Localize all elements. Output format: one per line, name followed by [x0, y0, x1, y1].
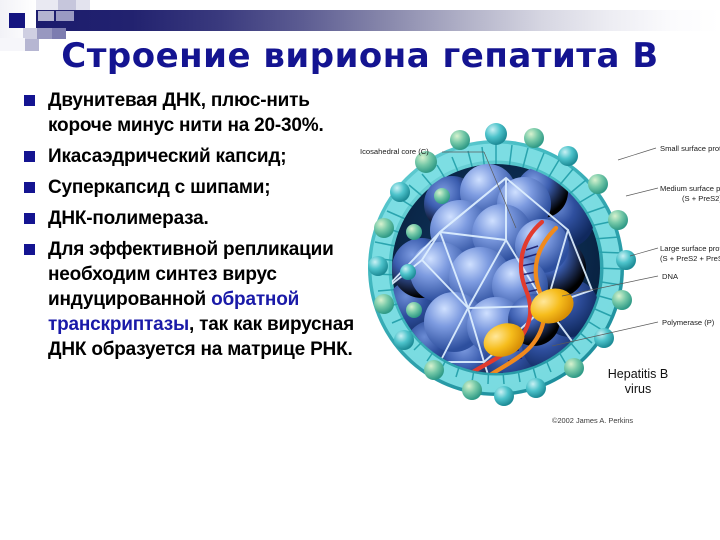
list-item: ДНК-полимераза. [24, 206, 354, 231]
square-bullet-icon [24, 151, 35, 162]
deco-square-mid-3 [56, 11, 74, 21]
figure-caption-line1: Hepatitis B [608, 367, 668, 381]
deco-square-mid-2 [38, 11, 54, 21]
bullet-text-dna: Двунитевая ДНК, плюс-нить короче минус н… [48, 88, 354, 138]
list-item: Суперкапсид с шипами; [24, 175, 354, 200]
label-core: Icosahedral core (C) [360, 147, 429, 156]
slide-root: Строение вириона гепатита B Двунитевая Д… [0, 0, 720, 540]
bullet-text-replication: Для эффективной репликации необходим син… [48, 237, 354, 362]
label-pol: Polymerase (P) [662, 318, 715, 327]
label-medium-s-line2: (S + PreS2) [682, 194, 720, 203]
bullet-text-polymerase: ДНК-полимераза. [48, 206, 354, 231]
deco-square-mid-1 [58, 0, 76, 10]
deco-square-light-2 [76, 0, 90, 10]
hepatitis-b-virion-diagram: Icosahedral core (C) Small surface prote… [356, 100, 720, 450]
square-bullet-icon [24, 182, 35, 193]
square-bullet-icon [24, 244, 35, 255]
deco-square-dark-1 [9, 13, 25, 28]
label-medium-s: Medium surface protein [660, 184, 720, 193]
label-small-s: Small surface protein (S) [660, 144, 720, 153]
bullet-text-supercapsid: Суперкапсид с шипами; [48, 175, 354, 200]
bullet-list: Двунитевая ДНК, плюс-нить короче минус н… [24, 88, 354, 368]
bullet-text-capsid: Икасаэдрический капсид; [48, 144, 354, 169]
list-item: Для эффективной репликации необходим син… [24, 237, 354, 362]
figure-copyright: ©2002 James A. Perkins [552, 416, 633, 425]
page-title: Строение вириона гепатита B [0, 36, 720, 76]
header-gradient-band [36, 10, 720, 31]
label-large-s: Large surface protein [660, 244, 720, 253]
label-large-s-line2: (S + PreS2 + PreS1) [660, 254, 720, 263]
label-dna: DNA [662, 272, 679, 281]
list-item: Икасаэдрический капсид; [24, 144, 354, 169]
list-item: Двунитевая ДНК, плюс-нить короче минус н… [24, 88, 354, 138]
square-bullet-icon [24, 95, 35, 106]
deco-square-light-1 [36, 0, 58, 10]
square-bullet-icon [24, 213, 35, 224]
figure-caption-line2: virus [625, 382, 651, 396]
